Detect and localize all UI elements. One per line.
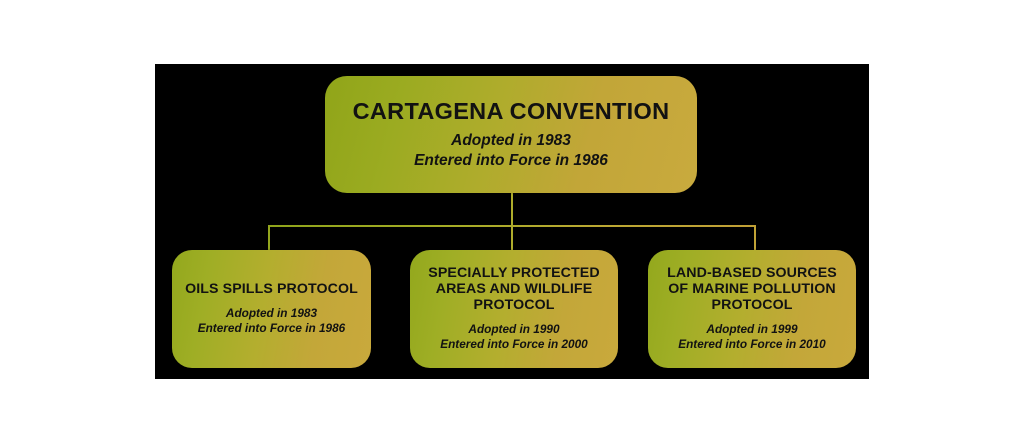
node-adopted-line: Adopted in 1983 — [414, 131, 608, 151]
node-meta: Adopted in 1990 Entered into Force in 20… — [440, 322, 588, 353]
node-meta: Adopted in 1983 Entered into Force in 19… — [414, 131, 608, 171]
node-oils-spills-protocol[interactable]: OILS SPILLS PROTOCOL Adopted in 1983 Ent… — [172, 250, 371, 368]
connector-root-stem — [511, 193, 513, 226]
node-entered-line: Entered into Force in 2000 — [440, 337, 588, 352]
node-title: OILS SPILLS PROTOCOL — [185, 282, 358, 298]
node-entered-line: Entered into Force in 2010 — [678, 337, 826, 352]
node-specially-protected-areas-and-wildlife-protocol[interactable]: SPECIALLY PROTECTED AREAS AND WILDLIFE P… — [410, 250, 618, 368]
node-meta: Adopted in 1983 Entered into Force in 19… — [198, 306, 346, 337]
slide-background-panel: CARTAGENA CONVENTION Adopted in 1983 Ent… — [155, 64, 869, 379]
node-adopted-line: Adopted in 1999 — [678, 322, 826, 337]
node-adopted-line: Adopted in 1990 — [440, 322, 588, 337]
node-title: SPECIALLY PROTECTED AREAS AND WILDLIFE P… — [420, 266, 608, 314]
node-adopted-line: Adopted in 1983 — [198, 306, 346, 321]
node-title: LAND-BASED SOURCES OF MARINE POLLUTION P… — [658, 266, 846, 314]
connector-drop-specially-protected-areas — [511, 225, 513, 250]
diagram-canvas: CARTAGENA CONVENTION Adopted in 1983 Ent… — [0, 0, 1024, 445]
node-entered-line: Entered into Force in 1986 — [414, 151, 608, 171]
connector-drop-land-based-sources — [754, 225, 756, 250]
node-meta: Adopted in 1999 Entered into Force in 20… — [678, 322, 826, 353]
connector-drop-oils-spills — [268, 225, 270, 250]
node-cartagena-convention[interactable]: CARTAGENA CONVENTION Adopted in 1983 Ent… — [325, 76, 697, 193]
node-entered-line: Entered into Force in 1986 — [198, 321, 346, 336]
node-title: CARTAGENA CONVENTION — [353, 98, 670, 124]
node-land-based-sources-of-marine-pollution-protocol[interactable]: LAND-BASED SOURCES OF MARINE POLLUTION P… — [648, 250, 856, 368]
